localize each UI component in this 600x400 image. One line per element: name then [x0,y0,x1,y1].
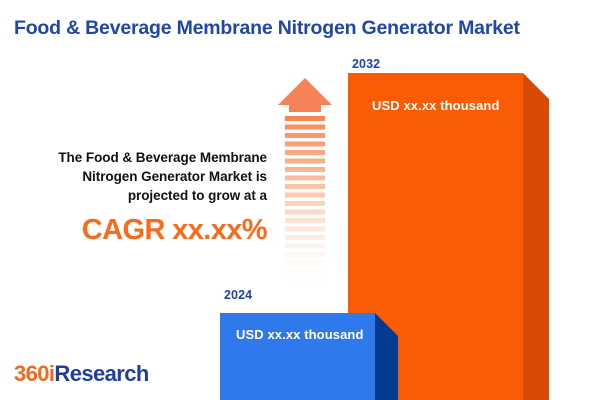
page-title: Food & Beverage Membrane Nitrogen Genera… [14,15,589,41]
logo-research-text: Research [54,361,148,386]
statement-line-1: The Food & Beverage Membrane [24,148,267,167]
market-growth-infographic: Food & Beverage Membrane Nitrogen Genera… [0,0,600,400]
growth-statement: The Food & Beverage Membrane Nitrogen Ge… [24,148,267,247]
statement-body: The Food & Beverage Membrane Nitrogen Ge… [24,148,267,205]
bar-year-label-2032: 2032 [352,57,380,71]
bar-2032-side-face [523,73,549,400]
statement-line-3: projected to grow at a [24,186,267,205]
upward-growth-arrow [276,76,334,290]
logo-360i-text: 360i [14,361,54,386]
bar-value-label-2024: USD xx.xx thousand [236,327,364,342]
brand-logo: 360iResearch [14,361,149,387]
cagr-value: CAGR xx.xx% [24,213,267,247]
growth-arrow-graphic [276,76,334,290]
bar-year-label-2024: 2024 [224,288,252,302]
bar-value-label-2032: USD xx.xx thousand [372,98,500,113]
statement-line-2: Nitrogen Generator Market is [24,167,267,186]
